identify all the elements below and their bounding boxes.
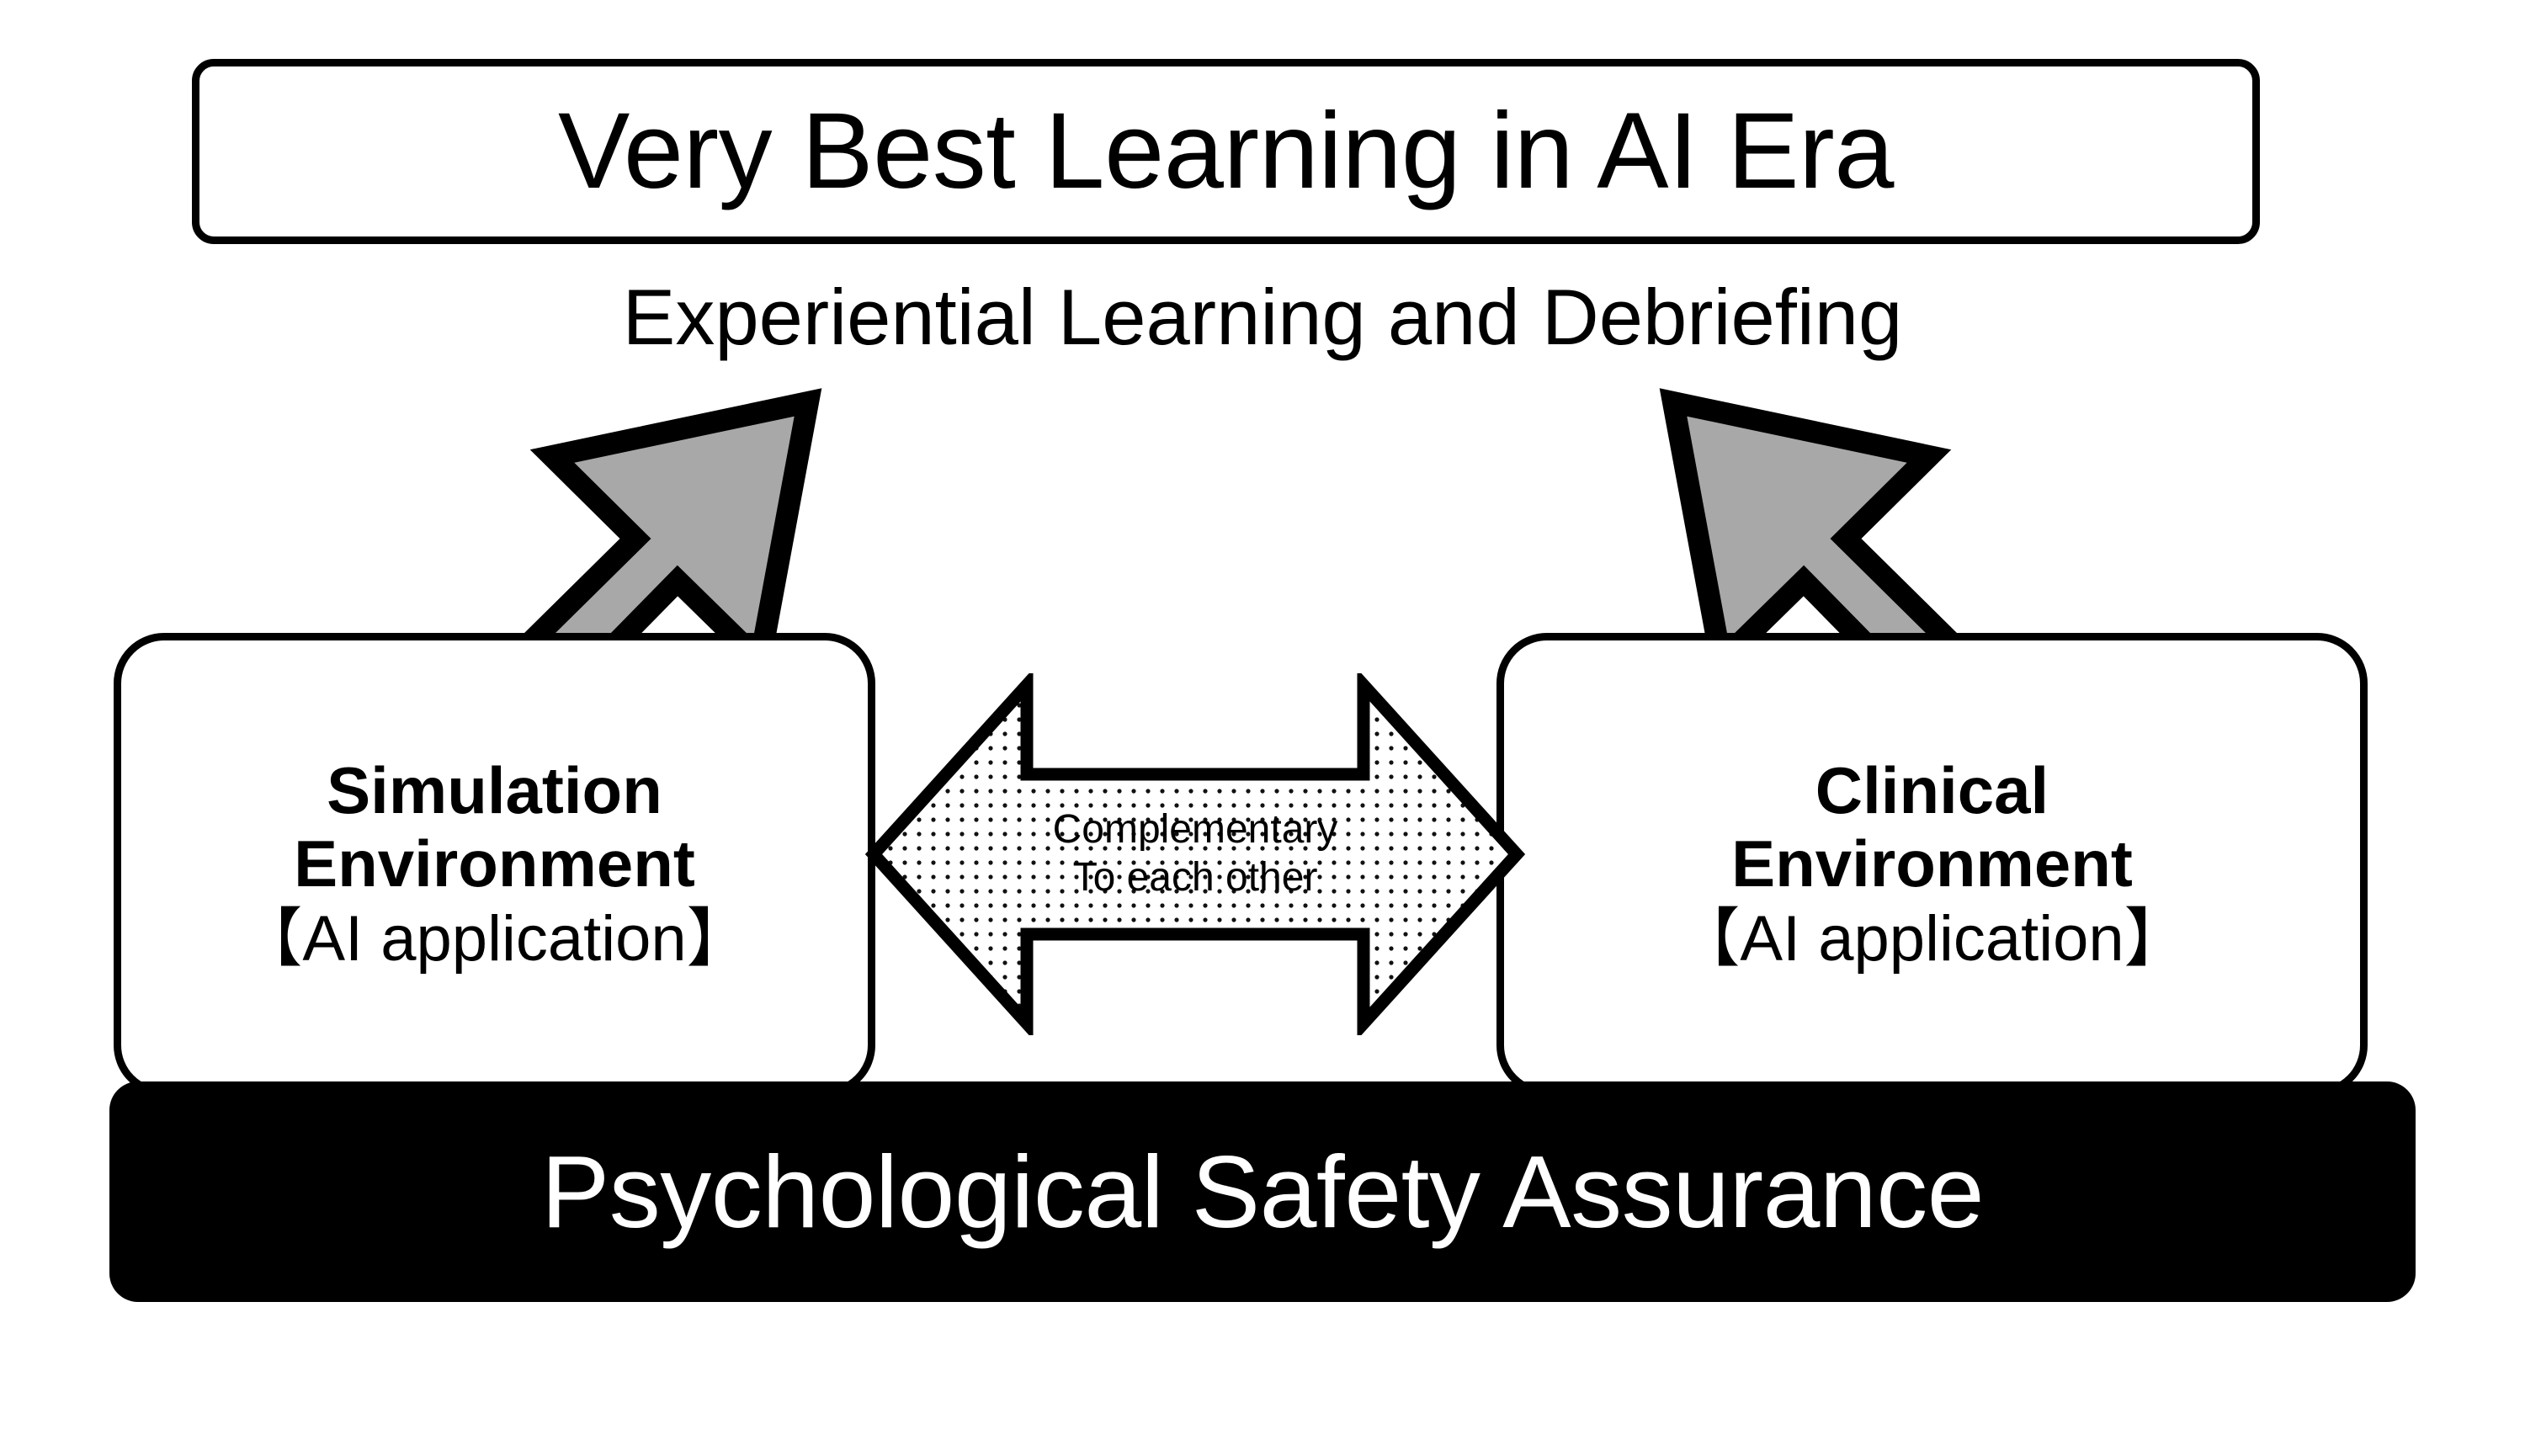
simulation-environment-line2: Environment — [294, 827, 695, 901]
psychological-safety-bar[interactable]: Psychological Safety Assurance — [109, 1081, 2416, 1302]
clinical-environment-line2: Environment — [1731, 827, 2133, 901]
clinical-environment-line1: Clinical — [1815, 754, 2049, 827]
subtitle-label: Experiential Learning and Debriefing — [0, 278, 2525, 357]
complementary-double-arrow-icon — [858, 673, 1532, 1035]
title-banner: Very Best Learning in AI Era — [192, 59, 2260, 244]
clinical-environment-box[interactable]: Clinical Environment 【AI application】 — [1496, 633, 2368, 1096]
simulation-environment-line1: Simulation — [327, 754, 662, 827]
clinical-environment-line3: 【AI application】 — [1676, 903, 2187, 975]
simulation-environment-box[interactable]: Simulation Environment 【AI application】 — [114, 633, 875, 1096]
simulation-environment-line3: 【AI application】 — [238, 903, 750, 975]
page-title: Very Best Learning in AI Era — [558, 98, 1894, 205]
psychological-safety-label: Psychological Safety Assurance — [541, 1140, 1984, 1243]
diagram-canvas: Very Best Learning in AI Era Experientia… — [0, 0, 2525, 1456]
